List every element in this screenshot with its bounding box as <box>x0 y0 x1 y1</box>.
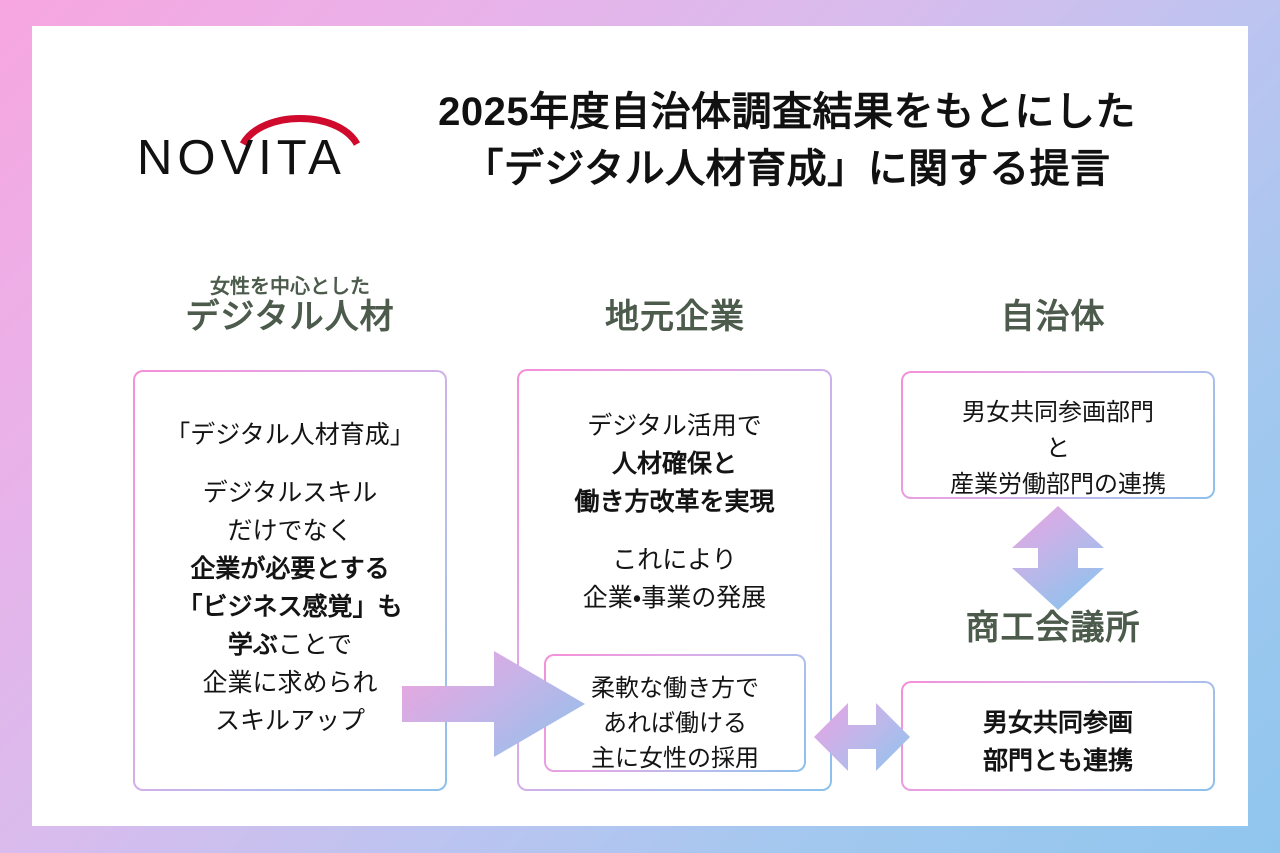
card-inner: 男女共同参画 部門とも連携 <box>903 683 1213 789</box>
column-heading-main: 地元企業 <box>497 298 853 336</box>
card-line: と <box>903 431 1213 467</box>
card-body-jichitai: 男女共同参画部門 と 産業労働部門の連携 <box>903 395 1213 503</box>
card-body-shoko-kaigisho: 男女共同参画 部門とも連携 <box>903 705 1213 780</box>
column-heading-main: 商工会議所 <box>877 609 1229 647</box>
column-heading-sub: 女性を中心とした <box>104 276 476 298</box>
card-line: デジタル活用で <box>519 407 830 445</box>
card-line-bold: 企業が必要とする <box>135 550 445 588</box>
column-heading-jimoto-kigyo: 地元企業 <box>497 298 853 336</box>
page-title: 2025年度自治体調査結果をもとにした 「デジタル人材育成」に関する提言 <box>372 84 1202 198</box>
card-line: 男女共同参画 <box>903 705 1213 743</box>
card-line-mixed: 学ぶことで <box>135 626 445 664</box>
card-line: 部門とも連携 <box>903 743 1213 781</box>
card-line-bold-text: 学ぶ <box>228 631 278 659</box>
card-line-bold-text: 働き方改革を実現 <box>574 488 774 516</box>
poster-canvas: NOVITA 2025年度自治体調査結果をもとにした 「デジタル人材育成」に関す… <box>32 26 1248 826</box>
line-spacer <box>519 521 830 541</box>
card-line-plain-text: ことで <box>278 631 352 659</box>
column-heading-main: デジタル人材 <box>104 298 476 336</box>
card-line-bold-text: 「ビジネス感覚」も <box>177 593 402 621</box>
poster-page: NOVITA 2025年度自治体調査結果をもとにした 「デジタル人材育成」に関す… <box>0 0 1280 853</box>
card-line-bold-text: 人材確保と <box>612 450 737 478</box>
card-body-jimoto-kigyo: デジタル活用で 人材確保と 働き方改革を実現 これにより 企業・事業の発展 <box>519 407 830 617</box>
page-title-line-1: 2025年度自治体調査結果をもとにした <box>372 84 1202 141</box>
card-line: 産業労働部門の連携 <box>903 467 1213 503</box>
logo-wordmark: NOVITA <box>137 134 346 183</box>
card-line: 企業に求められ <box>135 664 445 702</box>
card-line: スキルアップ <box>135 702 445 740</box>
card-shoko-kaigisho: 男女共同参画 部門とも連携 <box>901 681 1215 791</box>
column-heading-jichitai: 自治体 <box>877 298 1229 336</box>
page-title-line-2: 「デジタル人材育成」に関する提言 <box>372 141 1202 198</box>
column-heading-shoko-kaigisho: 商工会議所 <box>877 609 1229 647</box>
card-line: 「デジタル人材育成」 <box>135 416 445 454</box>
column-heading-main: 自治体 <box>877 298 1229 336</box>
poster-header: NOVITA 2025年度自治体調査結果をもとにした 「デジタル人材育成」に関す… <box>32 26 1248 206</box>
arrow-left-right-icon <box>812 701 912 773</box>
arrow-right-large-icon <box>402 649 587 759</box>
line-spacer <box>135 454 445 474</box>
card-line-bold: 「ビジネス感覚」も <box>135 588 445 626</box>
card-line-bold: 働き方改革を実現 <box>519 483 830 521</box>
novita-logo: NOVITA <box>137 104 387 194</box>
column-heading-digital-jinzai: 女性を中心とした デジタル人材 <box>104 276 476 336</box>
card-line: デジタルスキル <box>135 474 445 512</box>
card-digital-jinzai: 「デジタル人材育成」 デジタルスキル だけでなく 企業が必要とする 「ビジネス感… <box>133 370 447 791</box>
card-jichitai: 男女共同参画部門 と 産業労働部門の連携 <box>901 371 1215 499</box>
card-line: だけでなく <box>135 512 445 550</box>
card-line-bold-text: 企業が必要とする <box>190 555 389 583</box>
card-body-digital-jinzai: 「デジタル人材育成」 デジタルスキル だけでなく 企業が必要とする 「ビジネス感… <box>135 416 445 740</box>
card-line: 企業・事業の発展 <box>519 579 830 617</box>
card-inner: 「デジタル人材育成」 デジタルスキル だけでなく 企業が必要とする 「ビジネス感… <box>135 372 445 789</box>
arrow-up-down-icon <box>1010 504 1106 612</box>
card-inner: 男女共同参画部門 と 産業労働部門の連携 <box>903 373 1213 497</box>
card-line: これにより <box>519 541 830 579</box>
card-line-bold: 人材確保と <box>519 445 830 483</box>
card-line: 男女共同参画部門 <box>903 395 1213 431</box>
